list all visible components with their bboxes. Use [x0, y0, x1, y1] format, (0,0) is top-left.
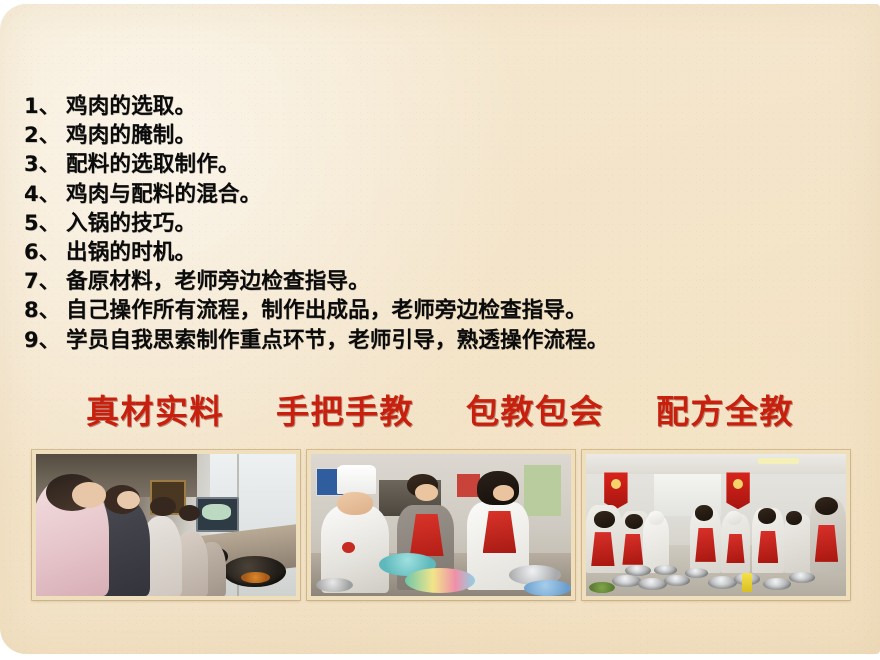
list-item: 3、 配料的选取制作。 [24, 150, 864, 179]
slogan-part-3: 包教包会 [466, 391, 604, 433]
oil-bottle [742, 573, 752, 591]
student-face [415, 484, 438, 501]
list-item-label: 鸡肉与配料的混合。 [66, 180, 261, 209]
list-item: 4、 鸡肉与配料的混合。 [24, 180, 864, 209]
photo-1-content [36, 454, 296, 596]
red-banner [726, 472, 749, 509]
steel-pot [638, 578, 667, 591]
student-face [493, 485, 514, 501]
red-apron [622, 534, 643, 565]
chef-hat [726, 511, 742, 525]
list-item: 1、 鸡肉的选取。 [24, 92, 864, 121]
vegetable-plate [589, 582, 615, 593]
green-wall-panel [524, 465, 560, 516]
slogan-banner: 真材实料 手把手教 包教包会 配方全教 [0, 391, 880, 433]
photo-3-content [586, 454, 846, 596]
student-head [786, 511, 802, 525]
ceiling [586, 454, 846, 474]
chef-face [337, 492, 373, 515]
student-head [695, 505, 713, 521]
wall-monitor [196, 497, 239, 532]
slide-canvas: 1、 鸡肉的选取。 2、 鸡肉的腌制。 3、 配料的选取制作。 4、 鸡肉与配料… [0, 0, 880, 660]
steel-pot [664, 575, 690, 586]
list-item-number: 9、 [24, 326, 66, 355]
student-head [594, 511, 615, 528]
photo-students-cooking-at-woks [32, 450, 300, 600]
student-head [758, 508, 776, 524]
steel-pot [685, 568, 708, 578]
list-item-number: 3、 [24, 150, 66, 179]
list-item-number: 6、 [24, 238, 66, 267]
list-item-number: 4、 [24, 180, 66, 209]
list-item: 9、 学员自我思索制作重点环节，老师引导，熟透操作流程。 [24, 326, 864, 355]
red-apron [726, 534, 744, 564]
list-item-label: 鸡肉的选取。 [66, 92, 196, 121]
student-face [72, 482, 106, 508]
list-item: 2、 鸡肉的腌制。 [24, 121, 864, 150]
steel-pot [708, 576, 737, 589]
list-item: 6、 出锅的时机。 [24, 238, 864, 267]
red-apron [815, 525, 838, 562]
list-item: 7、 备原材料，老师旁边检查指导。 [24, 267, 864, 296]
list-item-number: 1、 [24, 92, 66, 121]
steel-pot [789, 572, 815, 583]
list-item: 8、 自己操作所有流程，制作出成品，老师旁边检查指导。 [24, 296, 864, 325]
course-steps-list: 1、 鸡肉的选取。 2、 鸡肉的腌制。 3、 配料的选取制作。 4、 鸡肉与配料… [24, 92, 864, 355]
chef-hat [337, 465, 376, 493]
list-item-label: 鸡肉的腌制。 [66, 121, 196, 150]
list-item: 5、 入锅的技巧。 [24, 209, 864, 238]
blue-bowl [524, 580, 571, 596]
photo-2-content [311, 454, 571, 596]
list-item-number: 2、 [24, 121, 66, 150]
colorful-mixing-bowl [405, 568, 475, 594]
list-item-label: 备原材料，老师旁边检查指导。 [66, 267, 370, 296]
list-item-number: 8、 [24, 296, 66, 325]
red-apron [695, 528, 716, 562]
list-item-label: 出锅的时机。 [66, 238, 196, 267]
slogan-part-2: 手把手教 [276, 391, 414, 433]
ceiling-light [758, 458, 800, 464]
steel-pot [654, 565, 677, 575]
list-item-number: 5、 [24, 209, 66, 238]
photo-chef-instructing-two-students [307, 450, 575, 600]
red-apron [758, 531, 779, 564]
photo-strip [32, 450, 850, 600]
list-item-number: 7、 [24, 267, 66, 296]
slogan-part-4: 配方全教 [656, 391, 794, 433]
photo-classroom-full-of-students [582, 450, 850, 600]
student-head [179, 505, 200, 521]
list-item-label: 学员自我思索制作重点环节，老师引导，熟透操作流程。 [66, 326, 609, 355]
chef-hat [648, 511, 664, 525]
list-item-label: 入锅的技巧。 [66, 209, 196, 238]
small-pot [316, 578, 352, 592]
list-item-label: 自己操作所有流程，制作出成品，老师旁边检查指导。 [66, 296, 587, 325]
red-apron [591, 532, 614, 566]
red-banner [604, 472, 627, 509]
student-head [815, 497, 838, 515]
slogan-part-1: 真材实料 [86, 391, 224, 433]
list-item-label: 配料的选取制作。 [66, 150, 240, 179]
